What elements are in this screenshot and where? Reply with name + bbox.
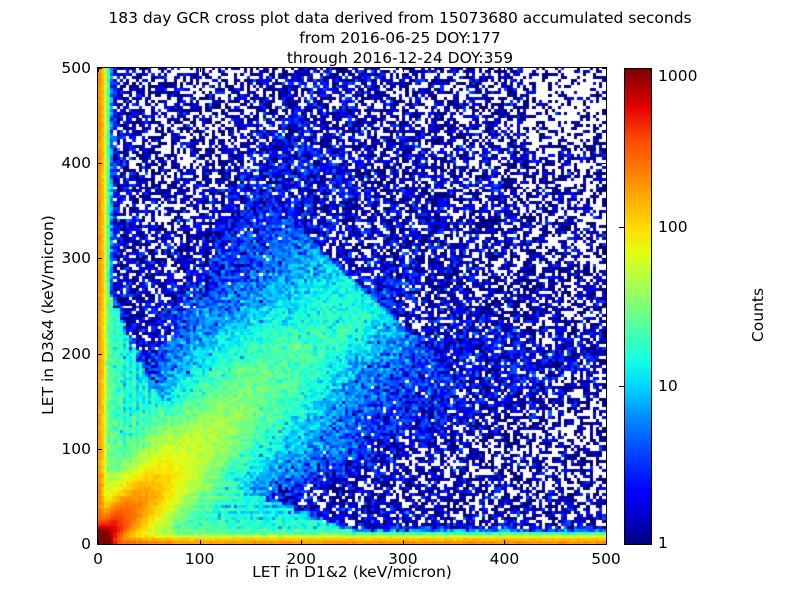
y-tick-label: 400 — [35, 154, 91, 172]
y-tick-left — [98, 68, 102, 69]
y-tick-right — [602, 258, 606, 259]
x-tick-top — [200, 68, 201, 72]
y-tick-right — [602, 544, 606, 545]
y-tick-left — [98, 354, 102, 355]
colorbar-title: Counts — [749, 225, 767, 405]
colorbar-tick — [619, 386, 624, 387]
colorbar-tick-label: 100 — [658, 218, 688, 236]
title-line-2: from 2016-06-25 DOY:177 — [0, 28, 800, 48]
y-tick-left — [98, 258, 102, 259]
colorbar-tick-label: 1 — [658, 534, 668, 552]
y-tick-label: 100 — [35, 440, 91, 458]
x-tick-top — [403, 68, 404, 72]
title-line-3: through 2016-12-24 DOY:359 — [0, 48, 800, 68]
x-tick-bottom — [301, 540, 302, 544]
colorbar-tick-label: 1000 — [658, 67, 697, 85]
x-tick-bottom — [504, 540, 505, 544]
x-axis-title: LET in D1&2 (keV/micron) — [97, 563, 607, 581]
colorbar-gradient — [624, 68, 652, 545]
x-tick-bottom — [606, 540, 607, 544]
title-line-1: 183 day GCR cross plot data derived from… — [0, 8, 800, 28]
y-tick-label: 500 — [35, 59, 91, 77]
x-tick-top — [301, 68, 302, 72]
plot-axes — [97, 67, 607, 545]
y-tick-right — [602, 449, 606, 450]
colorbar-tick-label: 10 — [658, 377, 678, 395]
y-tick-left — [98, 449, 102, 450]
figure-canvas: 183 day GCR cross plot data derived from… — [0, 0, 800, 600]
colorbar: 1101001000 — [624, 68, 652, 545]
y-tick-left — [98, 163, 102, 164]
figure-title: 183 day GCR cross plot data derived from… — [0, 8, 800, 68]
y-tick-right — [602, 354, 606, 355]
x-tick-top — [504, 68, 505, 72]
y-tick-right — [602, 68, 606, 69]
colorbar-tick — [619, 227, 624, 228]
x-tick-bottom — [403, 540, 404, 544]
density-scatter-plot — [98, 68, 606, 544]
x-tick-bottom — [200, 540, 201, 544]
y-tick-label: 0 — [35, 535, 91, 553]
x-tick-top — [606, 68, 607, 72]
y-tick-left — [98, 544, 102, 545]
y-axis-title: LET in D3&4 (keV/micron) — [39, 205, 57, 425]
y-tick-right — [602, 163, 606, 164]
